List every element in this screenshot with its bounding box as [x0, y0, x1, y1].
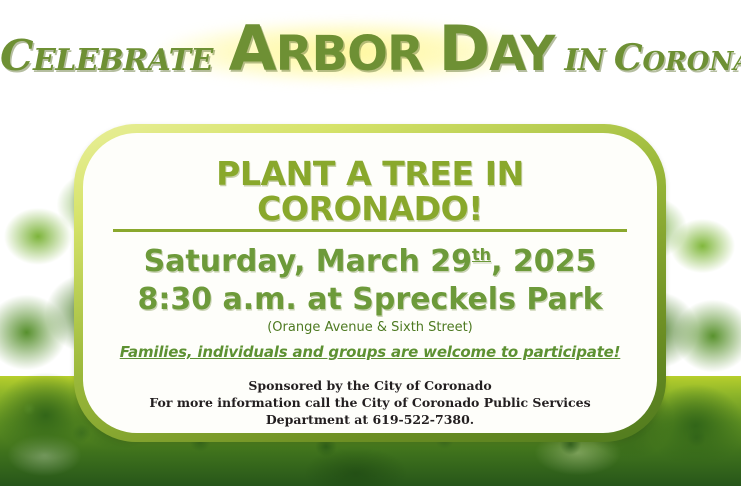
headline-text: PLANT A TREE IN CORONADO! — [113, 157, 627, 232]
poster-card-frame: PLANT A TREE IN CORONADO! Saturday, Marc… — [74, 124, 666, 442]
arbor-day-poster: CELEBRATE ARBOR DAY IN CORONADO PLANT A … — [0, 0, 741, 486]
welcome-message: Families, individuals and groups are wel… — [113, 343, 627, 361]
contact-line: For more information call the City of Co… — [113, 395, 627, 429]
event-address: (Orange Avenue & Sixth Street) — [113, 320, 627, 335]
title-word-in: IN — [554, 43, 604, 78]
poster-banner: CELEBRATE ARBOR DAY IN CORONADO — [0, 14, 741, 94]
poster-card: PLANT A TREE IN CORONADO! Saturday, Marc… — [83, 133, 657, 433]
event-date-line: Saturday, March 29th, 2025 — [113, 244, 627, 279]
title-word-coronado: CORONADO — [605, 47, 741, 77]
poster-title: CELEBRATE ARBOR DAY IN CORONADO — [0, 14, 741, 80]
event-date-prefix: Saturday, March 29 — [144, 244, 472, 279]
event-date-suffix: , 2025 — [491, 244, 596, 279]
event-date-ordinal: th — [472, 245, 491, 264]
headline-wrapper: PLANT A TREE IN CORONADO! — [113, 151, 627, 232]
event-time-location: 8:30 a.m. at Spreckels Park — [113, 282, 627, 317]
title-word-day: DAY — [423, 26, 555, 82]
sponsor-line: Sponsored by the City of Coronado — [113, 378, 627, 395]
title-word-celebrate: CELEBRATE — [0, 43, 213, 78]
title-word-arbor: ARBOR — [213, 26, 423, 82]
sponsor-block: Sponsored by the City of Coronado For mo… — [113, 378, 627, 429]
